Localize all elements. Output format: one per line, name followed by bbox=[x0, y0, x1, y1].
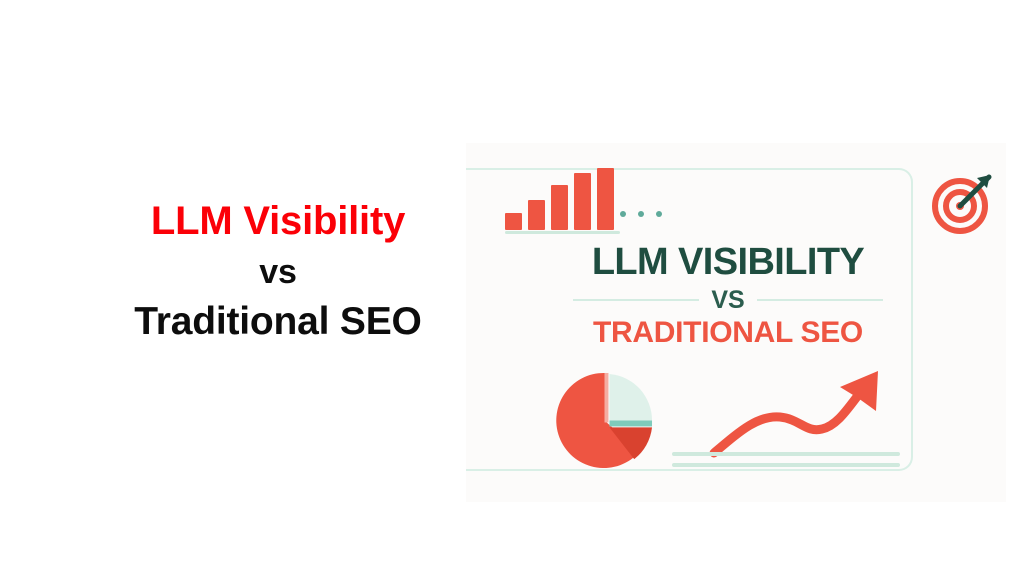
panel-baseline-lines bbox=[672, 452, 900, 467]
panel-title-sub: TRADITIONAL SEO bbox=[528, 317, 928, 349]
pie-chart-icon bbox=[555, 371, 654, 470]
bar-1 bbox=[505, 213, 522, 230]
headline-line-1: LLM Visibility bbox=[78, 196, 478, 247]
pie-slice-secondary bbox=[609, 374, 652, 421]
panel-title-separator: VS bbox=[711, 286, 744, 315]
baseline-line-2 bbox=[672, 463, 900, 467]
panel-title-main: LLM VISIBILITY bbox=[528, 243, 928, 282]
pie-slice-highlight bbox=[609, 421, 652, 427]
vs-rule-right bbox=[757, 299, 883, 301]
page-canvas: LLM Visibility vs Traditional SEO LLM VI bbox=[0, 0, 1024, 576]
headline-line-3: Traditional SEO bbox=[78, 297, 478, 347]
dot-1 bbox=[620, 211, 626, 217]
bar-5 bbox=[597, 168, 614, 230]
page-title: LLM Visibility vs Traditional SEO bbox=[78, 196, 478, 347]
pie-gap-separator bbox=[605, 373, 609, 423]
illustration-panel: LLM VISIBILITY VS TRADITIONAL SEO bbox=[466, 143, 1006, 502]
bar-chart-icon bbox=[505, 166, 627, 234]
pie-chart-svg bbox=[555, 371, 654, 470]
growth-arrow-icon bbox=[706, 365, 896, 465]
bar-chart-bars bbox=[505, 168, 627, 230]
headline-line-2: vs bbox=[78, 251, 478, 295]
baseline-line-1 bbox=[672, 452, 900, 456]
bar-chart-baseline bbox=[505, 231, 620, 234]
growth-arrow-curve bbox=[714, 383, 868, 453]
panel-title-vs-row: VS bbox=[528, 286, 928, 315]
vs-rule-left bbox=[573, 299, 699, 301]
panel-title-block: LLM VISIBILITY VS TRADITIONAL SEO bbox=[528, 243, 928, 348]
dot-2 bbox=[638, 211, 644, 217]
bar-4 bbox=[574, 173, 591, 230]
dot-3 bbox=[656, 211, 662, 217]
bar-3 bbox=[551, 185, 568, 230]
ellipsis-dots-icon bbox=[620, 211, 662, 217]
bar-2 bbox=[528, 200, 545, 230]
target-bullseye-icon bbox=[927, 166, 999, 238]
